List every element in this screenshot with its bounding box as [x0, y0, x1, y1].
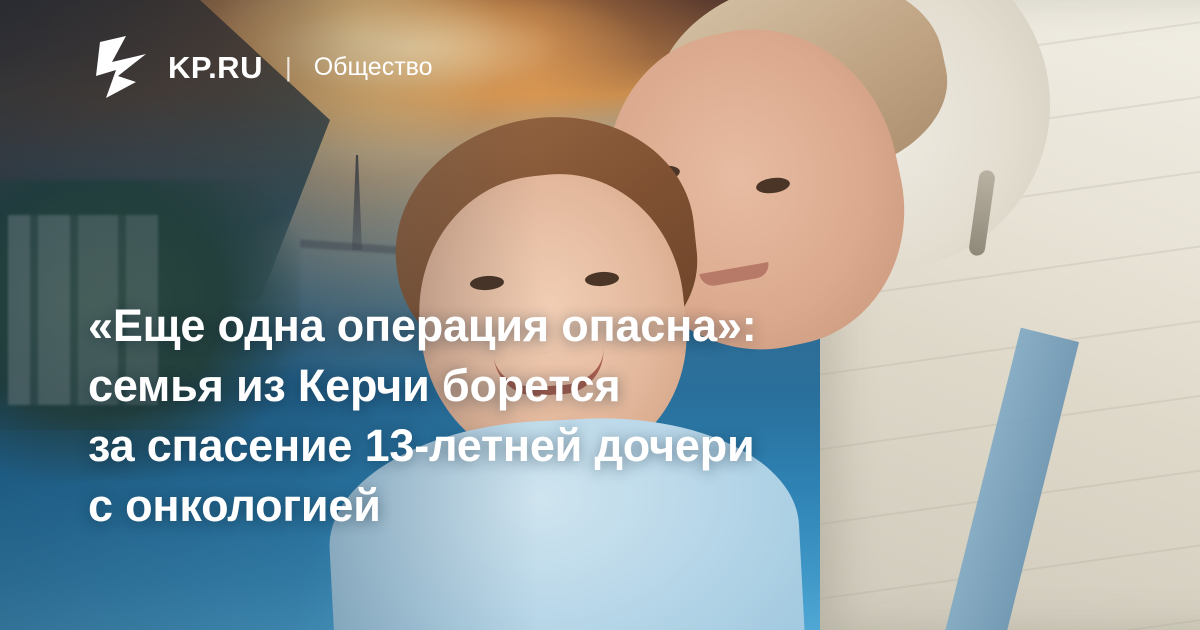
kp-bird-logo-icon[interactable]: [96, 36, 150, 98]
page-title: «Еще одна операция опасна»: семья из Кер…: [88, 296, 968, 535]
header-divider: |: [285, 54, 292, 80]
rubric-label[interactable]: Общество: [314, 55, 433, 80]
brand-name[interactable]: KP.RU: [168, 52, 263, 83]
brand-header: KP.RU | Общество: [96, 36, 433, 98]
article-preview-card: KP.RU | Общество «Еще одна операция опас…: [0, 0, 1200, 630]
